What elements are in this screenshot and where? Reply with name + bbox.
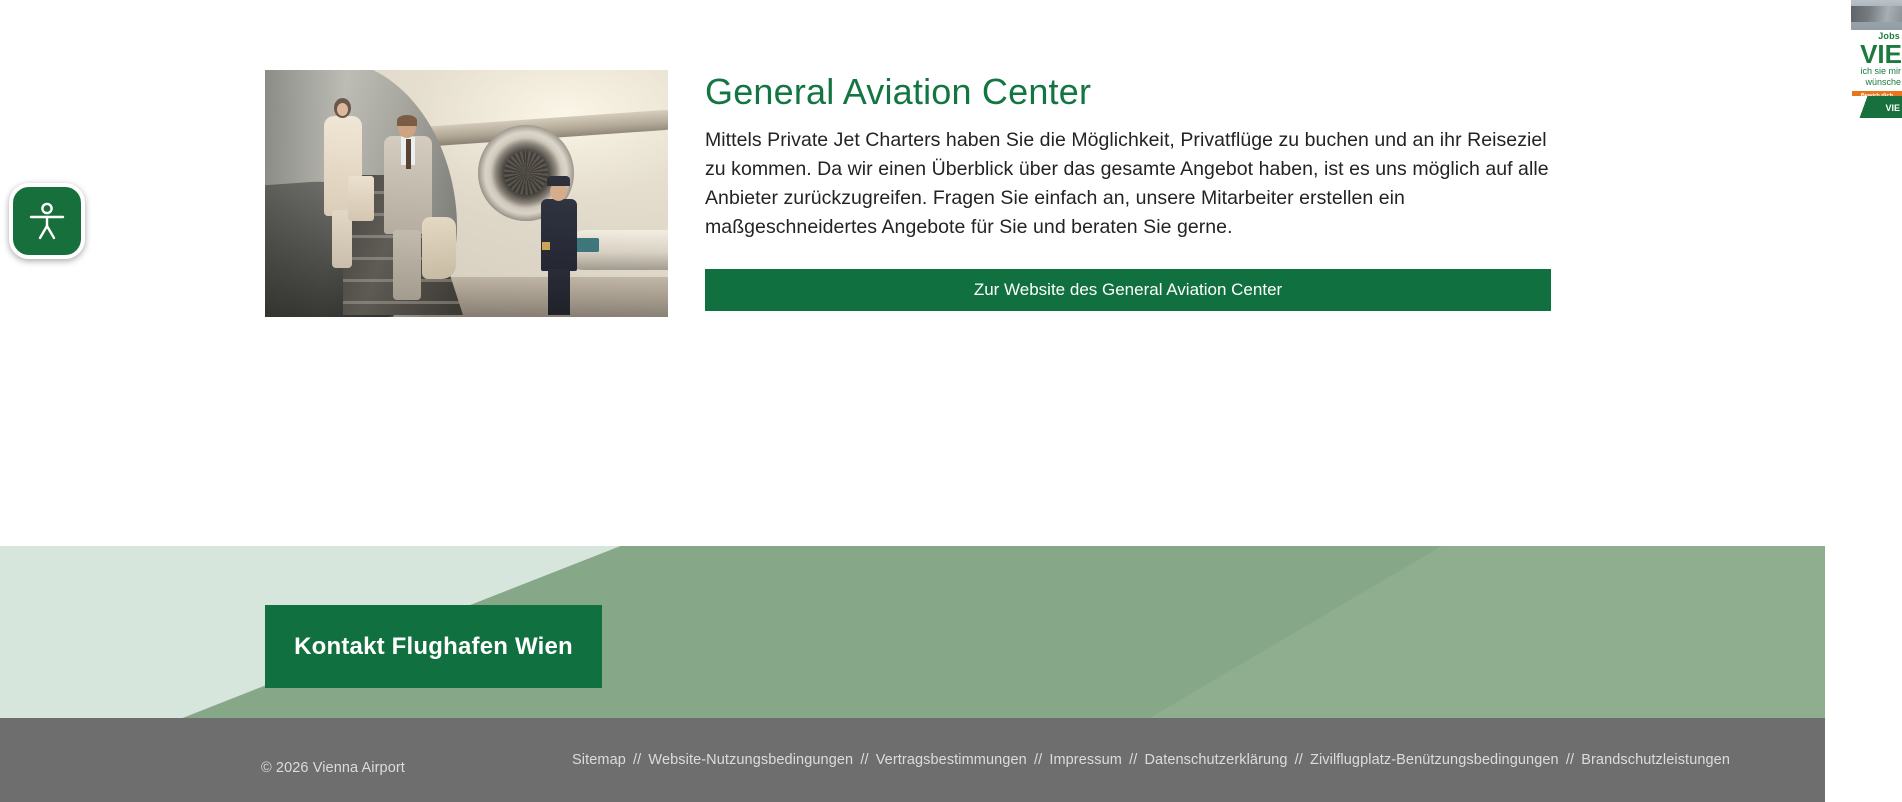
footer-link-impressum[interactable]: Impressum [1049,752,1122,768]
contact-flughafen-wien-button[interactable]: Kontakt Flughafen Wien [265,605,602,688]
page-title: General Aviation Center [705,70,1553,114]
ad-line-1: ich sie mir [1851,66,1902,77]
footer-link-separator: // [1027,752,1050,768]
footer-link-zivilflugplatz-ben-tzungsbedingungen[interactable]: Zivilflugplatz-Benützungsbedingungen [1310,752,1559,768]
footer-link-website-nutzungsbedingungen[interactable]: Website-Nutzungsbedingungen [648,752,853,768]
accessibility-person-icon [26,200,68,242]
footer-link-separator: // [1559,752,1582,768]
footer-links: Sitemap // Website-Nutzungsbedingungen /… [572,752,1730,768]
accessibility-widget-button[interactable] [9,183,85,259]
footer-link-separator: // [1288,752,1311,768]
ad-line-2: wünsche [1851,77,1902,88]
jobs-ad-banner[interactable]: Jobs VIE ich sie mir wünsche Bewirb dich… [1851,0,1902,118]
footer-link-brandschutzleistungen[interactable]: Brandschutzleistungen [1581,752,1730,768]
ad-vie-logo: VIE [1885,103,1900,113]
footer-link-separator: // [626,752,649,768]
hero-paragraph: Mittels Private Jet Charters haben Sie d… [705,126,1551,242]
general-aviation-website-button[interactable]: Zur Website des General Aviation Center [705,269,1551,311]
footer-link-separator: // [853,752,876,768]
copyright-text: © 2026 Vienna Airport [261,760,405,776]
photo-color-grade [265,70,668,317]
ad-body: Jobs VIE ich sie mir wünsche Bewirb dich… [1851,30,1902,98]
footer-link-separator: // [1122,752,1145,768]
ad-vie-label: VIE [1851,42,1902,66]
ad-footer: VIE [1851,96,1902,118]
footer-banner-band: Kontakt Flughafen Wien [0,546,1825,718]
hero-text-block: General Aviation Center Mittels Private … [705,70,1553,311]
footer-link-vertragsbestimmungen[interactable]: Vertragsbestimmungen [876,752,1027,768]
page-root: General Aviation Center Mittels Private … [0,0,1902,802]
hero-image [265,70,668,317]
footer-link-datenschutzerkl-rung[interactable]: Datenschutzerklärung [1144,752,1287,768]
footer-link-sitemap[interactable]: Sitemap [572,752,626,768]
